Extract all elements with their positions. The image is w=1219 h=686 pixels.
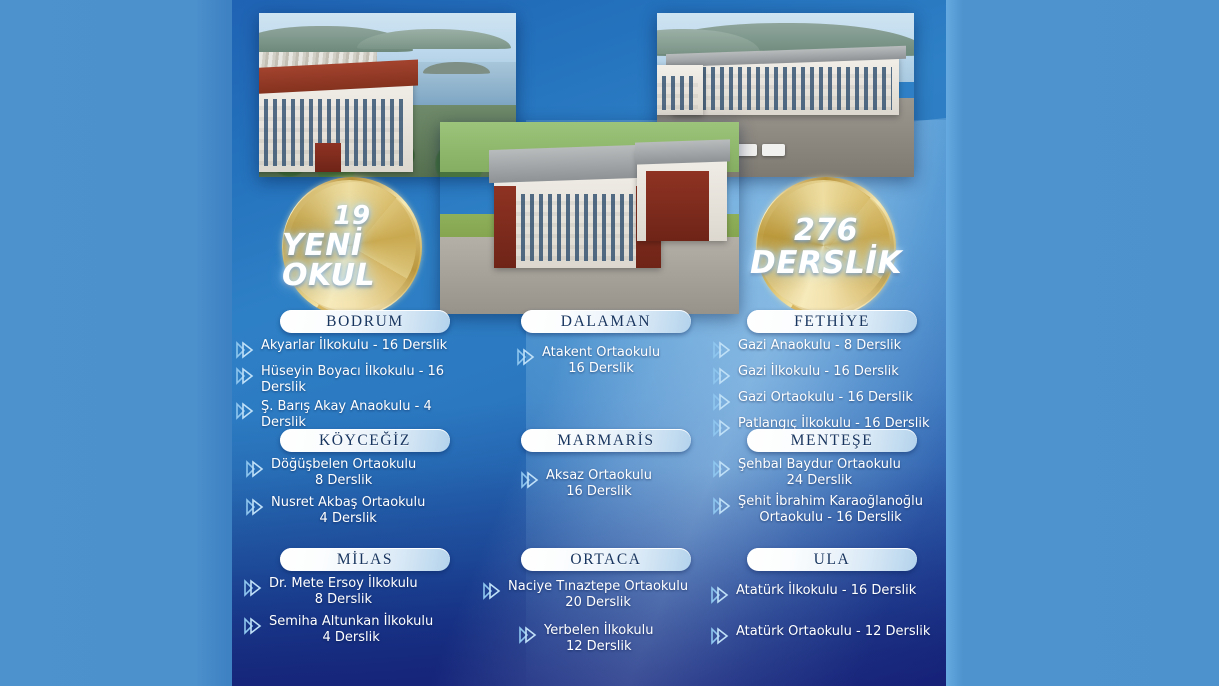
badge-classrooms-count: 276 (794, 216, 858, 246)
list-item: Atakent Ortaokulu 16 Derslik (515, 345, 705, 377)
double-chevron-icon (711, 391, 733, 413)
school-name: Şehit İbrahim Karaoğlanoğlu Ortaokulu - … (738, 494, 923, 526)
school-list-koycegiz: Döğüşbelen Ortaokulu 8 Derslik Nusret Ak… (244, 457, 477, 527)
school-name: Hüseyin Boyacı İlkokulu - 16 Derslik (261, 364, 477, 396)
district-title-dalaman: DALAMAN (521, 310, 691, 333)
double-chevron-icon (709, 625, 731, 647)
double-chevron-icon (515, 346, 537, 368)
district-dalaman: DALAMAN Atakent Ortaokulu 16 Derslik (477, 310, 705, 429)
badge-classrooms: 276 DERSLİK (756, 177, 896, 317)
school-photo-aerial (440, 122, 739, 314)
district-fethiye: FETHİYE Gazi Anaokulu - 8 Derslik Gazi İ… (705, 310, 946, 429)
school-name: Atatürk İlkokulu - 16 Derslik (736, 583, 916, 599)
double-chevron-icon (711, 339, 733, 361)
district-grid: BODRUM Akyarlar İlkokulu - 16 Derslik Hü… (232, 310, 946, 686)
double-chevron-icon (517, 624, 539, 646)
district-ortaca: ORTACA Naciye Tınaztepe Ortaokulu 20 Der… (477, 548, 705, 686)
double-chevron-icon (481, 580, 503, 602)
school-name: Aksaz Ortaokulu 16 Derslik (546, 468, 652, 500)
double-chevron-icon (711, 458, 733, 480)
double-chevron-icon (244, 458, 266, 480)
school-name: Semiha Altunkan İlkokulu 4 Derslik (269, 614, 433, 646)
list-item: Şehbal Baydur Ortaokulu 24 Derslik (711, 457, 946, 489)
district-mentese: MENTEŞE Şehbal Baydur Ortaokulu 24 Dersl… (705, 429, 946, 548)
double-chevron-icon (234, 339, 256, 361)
school-name: Akyarlar İlkokulu - 16 Derslik (261, 338, 447, 354)
list-item: Naciye Tınaztepe Ortaokulu 20 Derslik (481, 579, 705, 611)
list-item: Gazi Anaokulu - 8 Derslik (711, 338, 946, 361)
district-title-ula: ULA (747, 548, 917, 571)
list-item: Şehit İbrahim Karaoğlanoğlu Ortaokulu - … (711, 494, 946, 526)
school-name: Yerbelen İlkokulu 12 Derslik (544, 623, 653, 655)
district-milas: MİLAS Dr. Mete Ersoy İlkokulu 8 Derslik … (232, 548, 477, 686)
district-title-mentese: MENTEŞE (747, 429, 917, 452)
school-name: Naciye Tınaztepe Ortaokulu 20 Derslik (508, 579, 688, 611)
district-title-ortaca: ORTACA (521, 548, 691, 571)
list-item: Hüseyin Boyacı İlkokulu - 16 Derslik (234, 364, 477, 396)
district-title-koycegiz: KÖYCEĞİZ (280, 429, 450, 452)
district-marmaris: MARMARİS Aksaz Ortaokulu 16 Derslik (477, 429, 705, 548)
school-name: Dr. Mete Ersoy İlkokulu 8 Derslik (269, 576, 418, 608)
school-list-fethiye: Gazi Anaokulu - 8 Derslik Gazi İlkokulu … (711, 338, 946, 439)
district-title-milas: MİLAS (280, 548, 450, 571)
double-chevron-icon (242, 577, 264, 599)
school-list-ortaca: Naciye Tınaztepe Ortaokulu 20 Derslik Ye… (481, 579, 705, 655)
list-item: Atatürk Ortaokulu - 12 Derslik (709, 624, 946, 647)
district-title-bodrum: BODRUM (280, 310, 450, 333)
school-list-ula: Atatürk İlkokulu - 16 Derslik Atatürk Or… (709, 583, 946, 647)
double-chevron-icon (709, 584, 731, 606)
district-koycegiz: KÖYCEĞİZ Döğüşbelen Ortaokulu 8 Derslik … (232, 429, 477, 548)
list-item: Nusret Akbaş Ortaokulu 4 Derslik (244, 495, 477, 527)
district-title-marmaris: MARMARİS (521, 429, 691, 452)
school-list-milas: Dr. Mete Ersoy İlkokulu 8 Derslik Semiha… (242, 576, 477, 646)
school-name: Nusret Akbaş Ortaokulu 4 Derslik (271, 495, 425, 527)
school-list-marmaris: Aksaz Ortaokulu 16 Derslik (519, 468, 705, 500)
list-item: Gazi İlkokulu - 16 Derslik (711, 364, 946, 387)
double-chevron-icon (234, 365, 256, 387)
school-name: Gazi Anaokulu - 8 Derslik (738, 338, 901, 354)
double-chevron-icon (711, 495, 733, 517)
list-item: Akyarlar İlkokulu - 16 Derslik (234, 338, 477, 361)
double-chevron-icon (242, 615, 264, 637)
district-title-fethiye: FETHİYE (747, 310, 917, 333)
badge-classrooms-label: DERSLİK (750, 248, 902, 279)
list-item: Ş. Barış Akay Anaokulu - 4 Derslik (234, 399, 477, 431)
school-name: Atatürk Ortaokulu - 12 Derslik (736, 624, 930, 640)
district-ula: ULA Atatürk İlkokulu - 16 Derslik Atatür… (705, 548, 946, 686)
list-item: Döğüşbelen Ortaokulu 8 Derslik (244, 457, 477, 489)
school-list-dalaman: Atakent Ortaokulu 16 Derslik (515, 345, 705, 377)
double-chevron-icon (244, 496, 266, 518)
school-name: Şehbal Baydur Ortaokulu 24 Derslik (738, 457, 901, 489)
double-chevron-icon (519, 469, 541, 491)
school-name: Gazi Ortaokulu - 16 Derslik (738, 390, 913, 406)
school-list-mentese: Şehbal Baydur Ortaokulu 24 Derslik Şehit… (711, 457, 946, 526)
list-item: Yerbelen İlkokulu 12 Derslik (517, 623, 705, 655)
list-item: Gazi Ortaokulu - 16 Derslik (711, 390, 946, 413)
poster-canvas: 19 YENİ OKUL 276 DERSLİK BODRUM Akyarla (0, 0, 1219, 686)
district-bodrum: BODRUM Akyarlar İlkokulu - 16 Derslik Hü… (232, 310, 477, 429)
school-name: Gazi İlkokulu - 16 Derslik (738, 364, 899, 380)
poster-panel: 19 YENİ OKUL 276 DERSLİK BODRUM Akyarla (232, 0, 946, 686)
school-name: Ş. Barış Akay Anaokulu - 4 Derslik (261, 399, 477, 431)
double-chevron-icon (234, 400, 256, 422)
list-item: Dr. Mete Ersoy İlkokulu 8 Derslik (242, 576, 477, 608)
badge-new-schools-count: 19 (333, 203, 370, 229)
double-chevron-icon (711, 365, 733, 387)
badge-new-schools-label: YENİ OKUL (282, 231, 422, 291)
school-name: Döğüşbelen Ortaokulu 8 Derslik (271, 457, 416, 489)
badge-new-schools: 19 YENİ OKUL (282, 177, 422, 317)
list-item: Aksaz Ortaokulu 16 Derslik (519, 468, 705, 500)
list-item: Atatürk İlkokulu - 16 Derslik (709, 583, 946, 606)
school-list-bodrum: Akyarlar İlkokulu - 16 Derslik Hüseyin B… (234, 338, 477, 431)
list-item: Semiha Altunkan İlkokulu 4 Derslik (242, 614, 477, 646)
school-name: Atakent Ortaokulu 16 Derslik (542, 345, 660, 377)
